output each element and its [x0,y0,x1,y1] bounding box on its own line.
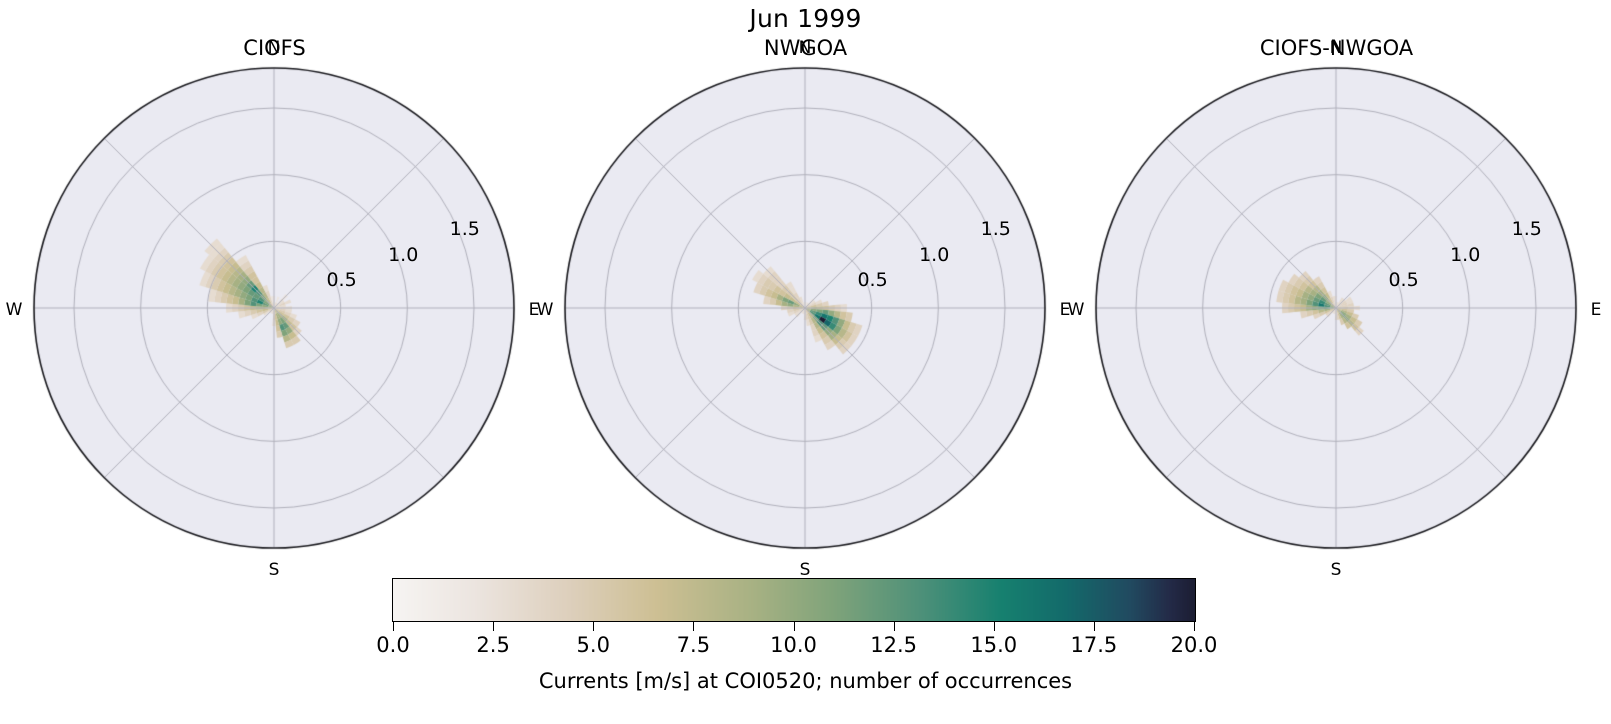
polar-axes-ciofs: NESW0.51.01.5 [6,58,543,578]
compass-label-w: W [1068,300,1085,320]
colorbar: 0.02.55.07.510.012.515.017.520.0 [392,578,1196,622]
colorbar-tick [493,622,494,631]
radial-tick-label-1-0: 1.0 [919,244,949,266]
compass-label-e: E [1591,300,1602,320]
radial-tick-label-0-5: 0.5 [857,269,887,291]
radial-tick-label-1-5: 1.5 [1512,218,1542,240]
polar-histogram-ciofs-nwgoa [1068,58,1605,578]
compass-label-s: S [1331,560,1342,580]
compass-label-n: N [1330,38,1343,58]
polar-axes-ciofs-nwgoa: NESW0.51.01.5 [1068,58,1605,578]
colorbar-tick [693,622,694,631]
colorbar-tick [593,622,594,631]
polar-histogram-ciofs [6,58,543,578]
compass-label-s: S [269,560,280,580]
panel-nwgoa: NWGOA NESW0.51.01.5 [537,36,1074,576]
colorbar-tick-label: 10.0 [770,633,817,657]
colorbar-tick-label: 20.0 [1171,633,1218,657]
radial-tick-label-0-5: 0.5 [1388,269,1418,291]
colorbar-tick-label: 7.5 [677,633,710,657]
radial-tick-label-1-0: 1.0 [1450,244,1480,266]
radial-tick-label-0-5: 0.5 [326,269,356,291]
colorbar-tick-label: 5.0 [577,633,610,657]
colorbar-tick [994,622,995,631]
colorbar-tick [1194,622,1195,631]
radial-tick-label-1-0: 1.0 [388,244,418,266]
radial-tick-label-1-5: 1.5 [981,218,1011,240]
compass-label-s: S [800,560,811,580]
compass-label-w: W [6,300,23,320]
colorbar-tick [393,622,394,631]
panel-ciofs: CIOFS NESW0.51.01.5 [6,36,543,576]
polar-axes-nwgoa: NESW0.51.01.5 [537,58,1074,578]
colorbar-label: Currents [m/s] at COI0520; number of occ… [0,669,1611,693]
colorbar-tick-label: 12.5 [870,633,917,657]
panel-ciofs-nwgoa: CIOFS-NWGOA NESW0.51.01.5 [1068,36,1605,576]
colorbar-tick-label: 17.5 [1070,633,1117,657]
radial-tick-label-1-5: 1.5 [450,218,480,240]
compass-label-n: N [799,38,812,58]
colorbar-tick-label: 0.0 [376,633,409,657]
colorbar-tick [894,622,895,631]
colorbar-gradient [392,578,1196,622]
colorbar-tick [794,622,795,631]
colorbar-tick-label: 15.0 [970,633,1017,657]
figure-suptitle: Jun 1999 [0,4,1611,33]
compass-label-n: N [268,38,281,58]
polar-histogram-nwgoa [537,58,1074,578]
colorbar-tick-label: 2.5 [476,633,509,657]
compass-label-w: W [537,300,554,320]
colorbar-tick [1094,622,1095,631]
figure-canvas: Jun 1999 CIOFS NESW0.51.01.5 NWGOA NESW0… [0,0,1611,724]
